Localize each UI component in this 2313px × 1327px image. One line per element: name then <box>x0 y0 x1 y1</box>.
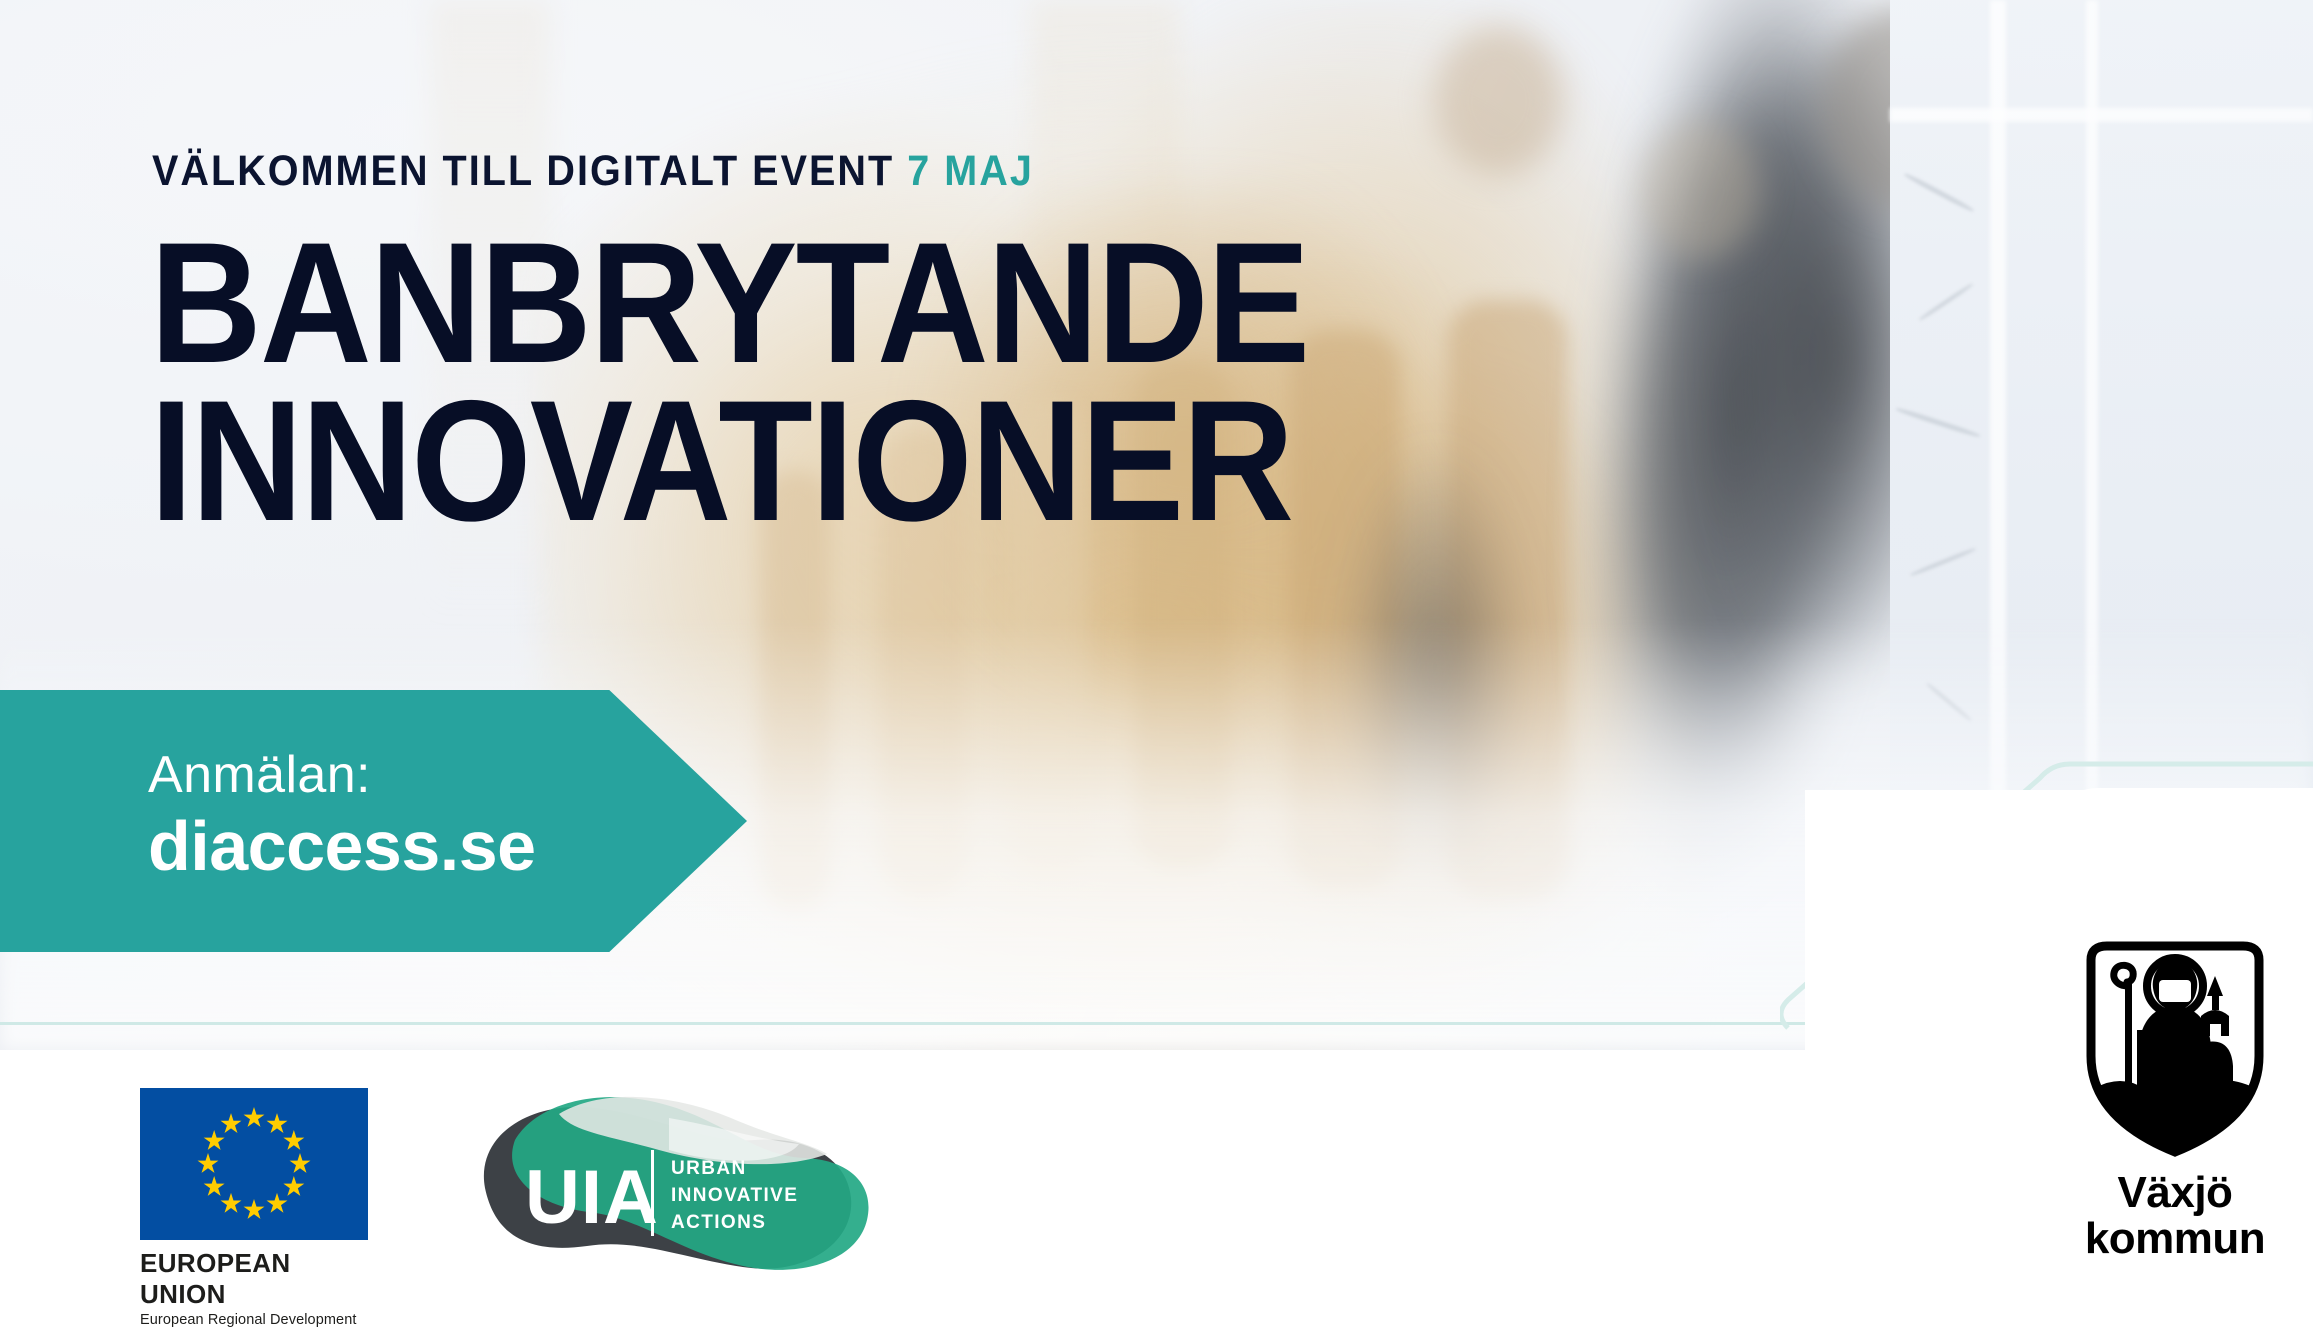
eu-star <box>283 1176 304 1196</box>
uia-blobs-icon <box>455 1078 875 1293</box>
eu-star <box>204 1176 225 1196</box>
eu-star <box>198 1153 219 1173</box>
vaxjo-wordmark: Växjö kommun <box>2060 1170 2290 1262</box>
uia-divider <box>651 1150 654 1236</box>
eu-star <box>221 1113 242 1133</box>
kicker-text: VÄLKOMMEN TILL DIGITALT EVENT <box>152 147 894 195</box>
eu-star <box>267 1193 288 1213</box>
eu-star <box>290 1153 311 1173</box>
uia-subtitle-line3: ACTIONS <box>671 1210 798 1237</box>
page-title-line1: BANBRYTANDE <box>150 222 1308 385</box>
page-title-line2: INNOVATIONER <box>150 380 1292 543</box>
eu-stars-icon <box>140 1088 368 1240</box>
eu-star <box>283 1130 304 1150</box>
kicker-date: 7 MAJ <box>907 147 1034 195</box>
logo-row: EUROPEAN UNION European Regional Develop… <box>0 1050 2313 1327</box>
uia-subtitle: URBAN INNOVATIVE ACTIONS <box>671 1156 798 1237</box>
eu-star <box>244 1107 265 1127</box>
eu-union-label: EUROPEAN UNION <box>140 1248 380 1310</box>
vaxjo-line1: Växjö <box>2060 1170 2290 1216</box>
eu-star <box>267 1113 288 1133</box>
uia-logo: UIA URBAN INNOVATIVE ACTIONS <box>455 1078 875 1293</box>
vaxjo-kommun-logo: Växjö kommun <box>2060 938 2290 1278</box>
event-banner: VÄLKOMMEN TILL DIGITALT EVENT 7 MAJ BANB… <box>0 0 2313 1327</box>
uia-acronym: UIA <box>525 1154 659 1241</box>
eu-logo: EUROPEAN UNION European Regional Develop… <box>140 1088 380 1288</box>
event-kicker: VÄLKOMMEN TILL DIGITALT EVENT 7 MAJ <box>152 147 1034 196</box>
eu-star <box>221 1193 242 1213</box>
eu-star <box>244 1199 265 1219</box>
registration-label: Anmälan: <box>148 745 371 805</box>
eu-star <box>204 1130 225 1150</box>
vaxjo-coat-of-arms-icon <box>2081 938 2269 1160</box>
vaxjo-line2: kommun <box>2060 1216 2290 1262</box>
registration-url[interactable]: diaccess.se <box>148 806 536 886</box>
eu-flag-icon <box>140 1088 368 1240</box>
eu-fund-label: European Regional Development Fund <box>140 1312 380 1327</box>
uia-subtitle-line1: URBAN <box>671 1156 798 1183</box>
uia-subtitle-line2: INNOVATIVE <box>671 1183 798 1210</box>
